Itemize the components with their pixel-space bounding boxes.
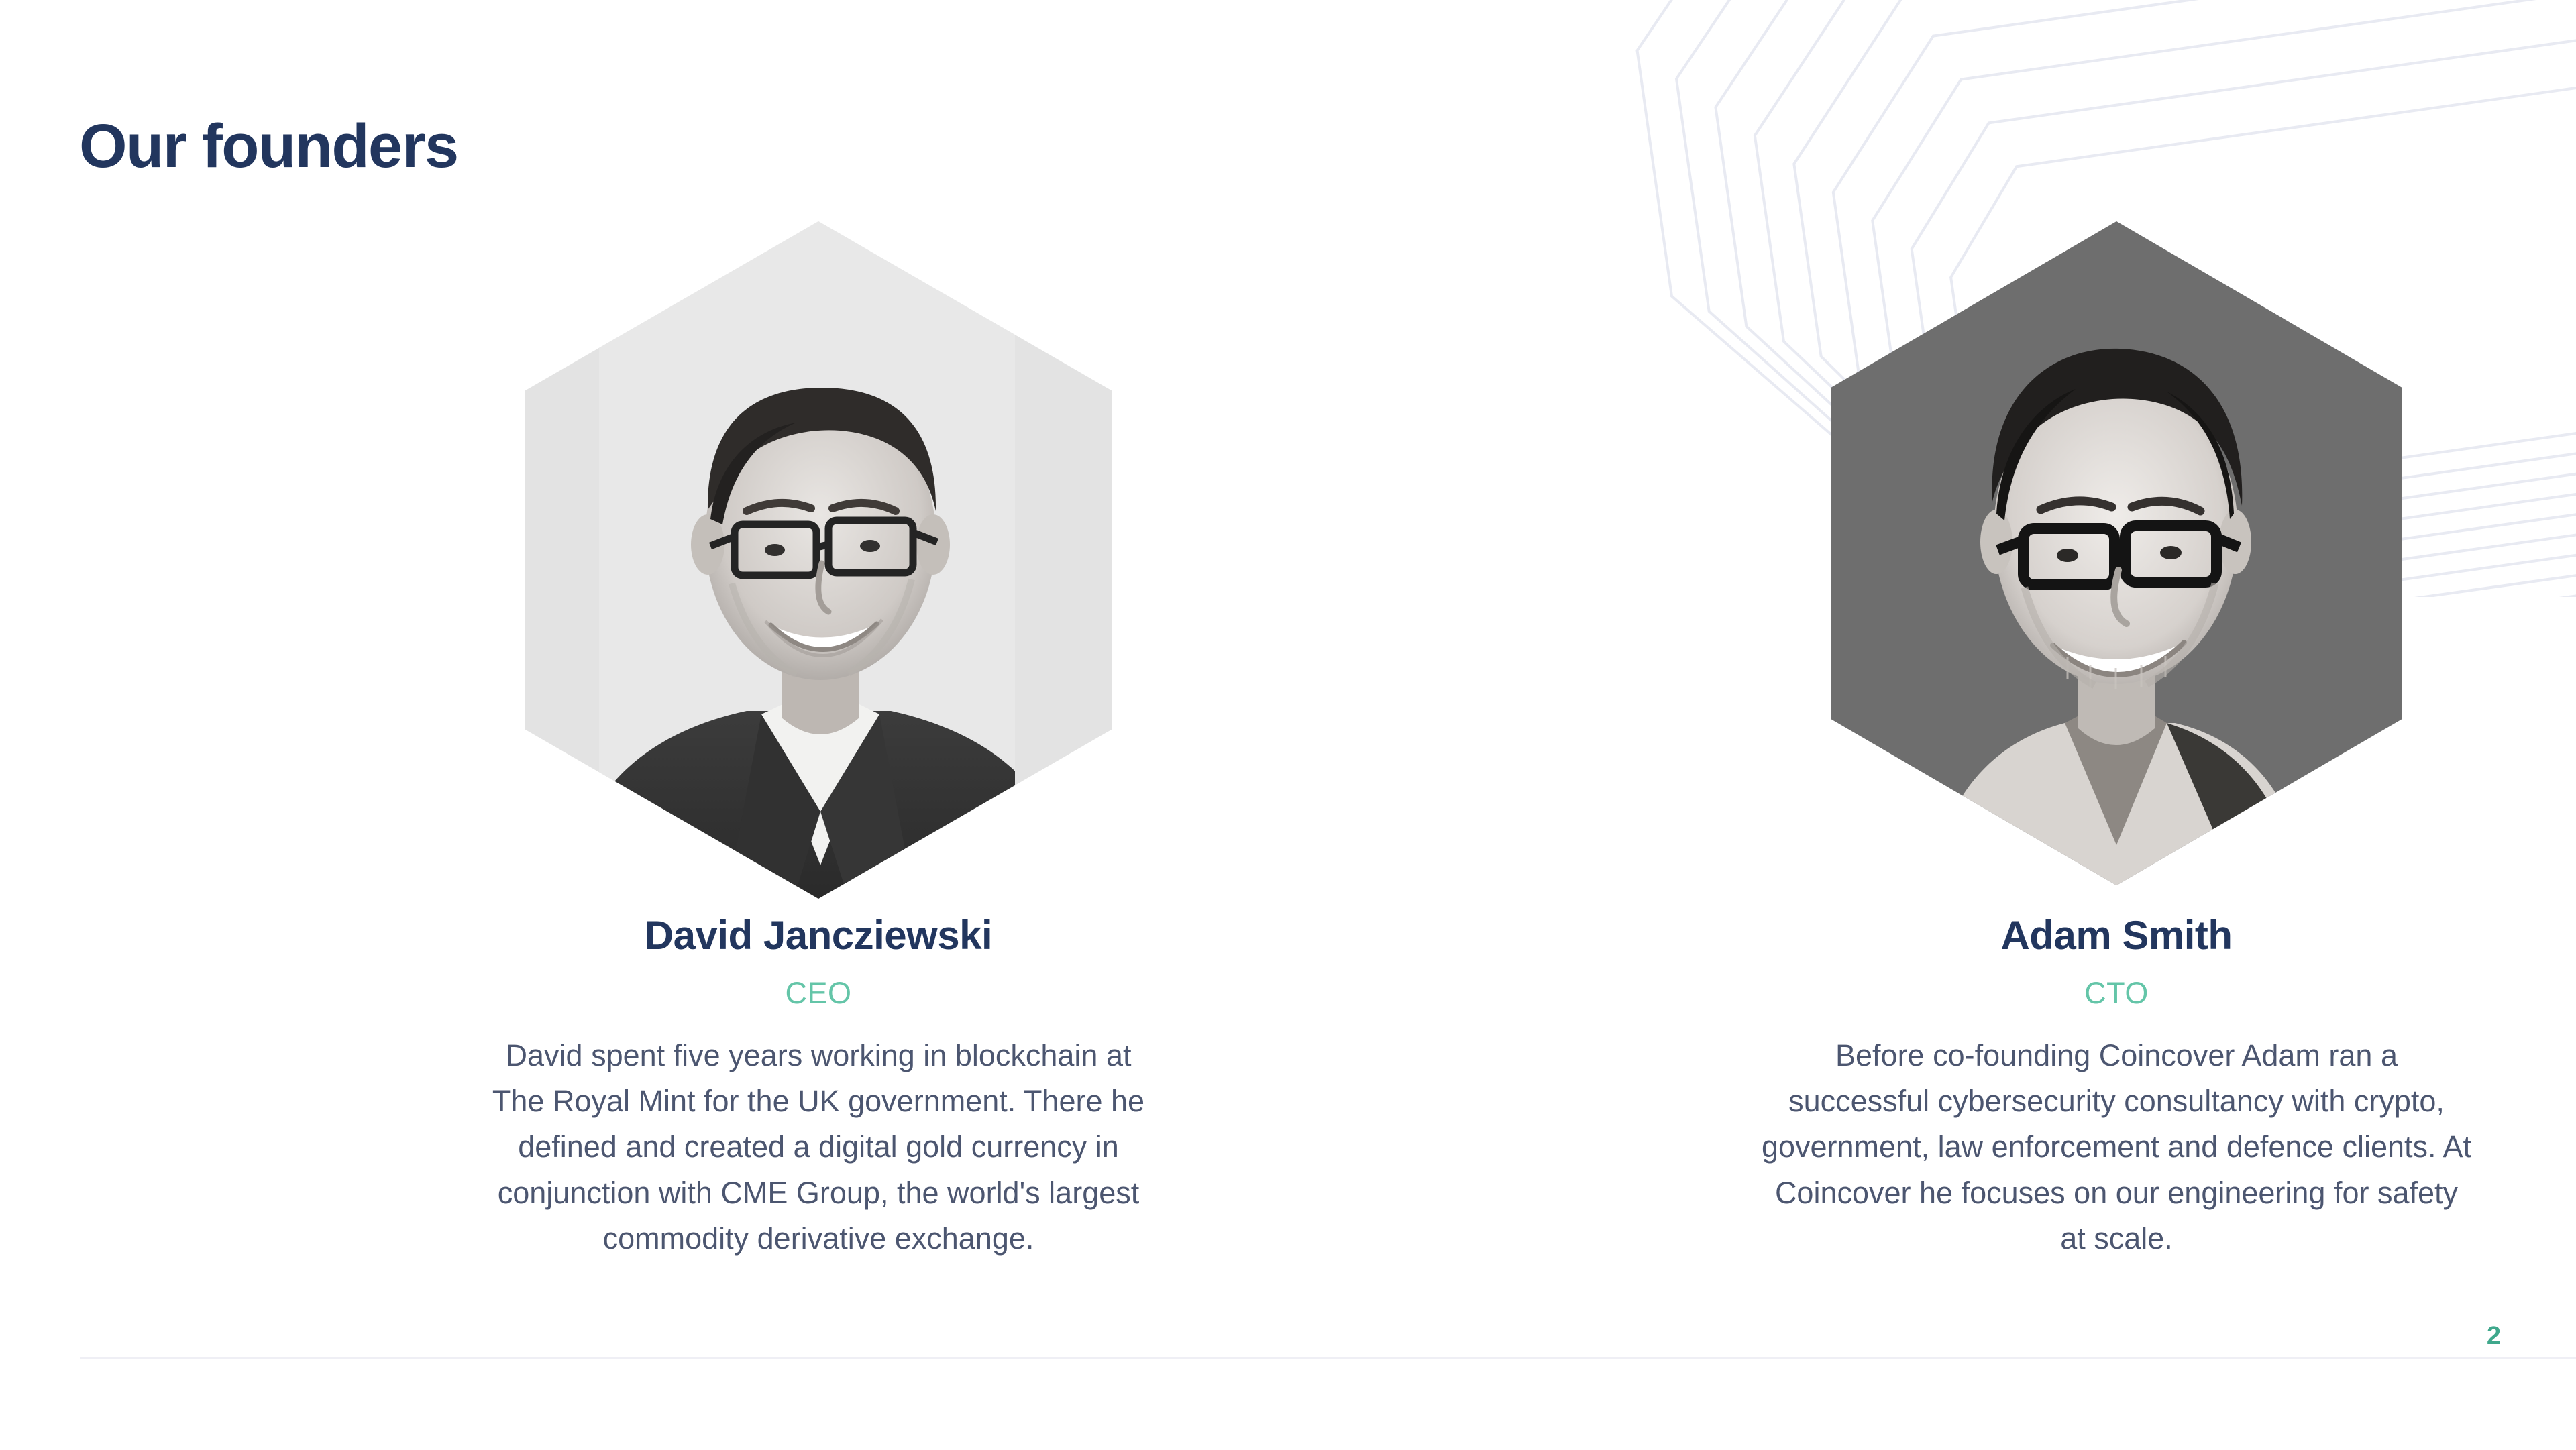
portrait-photo <box>525 221 1112 899</box>
footer-divider <box>80 1357 2576 1359</box>
hexagon-photo-frame <box>1831 221 2402 885</box>
founder-name: David Jancziewski <box>645 913 992 958</box>
founder-bio: Before co-founding Coincover Adam ran a … <box>1761 1033 2472 1262</box>
hexagon-photo-frame <box>525 221 1112 899</box>
founder-card: Adam Smith CTO Before co-founding Coinco… <box>1674 221 2559 1262</box>
founder-role: CEO <box>785 977 851 1010</box>
founder-bio: David spent five years working in blockc… <box>483 1033 1154 1262</box>
portrait-photo <box>1831 221 2402 885</box>
page-title: Our founders <box>79 114 458 179</box>
slide-our-founders: Our founders <box>0 0 2576 1450</box>
founder-card: David Jancziewski CEO David spent five y… <box>376 221 1261 1262</box>
founder-name: Adam Smith <box>2000 913 2232 958</box>
avatar <box>525 221 1112 899</box>
founders-grid: David Jancziewski CEO David spent five y… <box>0 221 2576 1262</box>
founder-role: CTO <box>2084 977 2149 1010</box>
avatar <box>1823 221 2410 899</box>
page-number: 2 <box>2487 1322 2501 1351</box>
